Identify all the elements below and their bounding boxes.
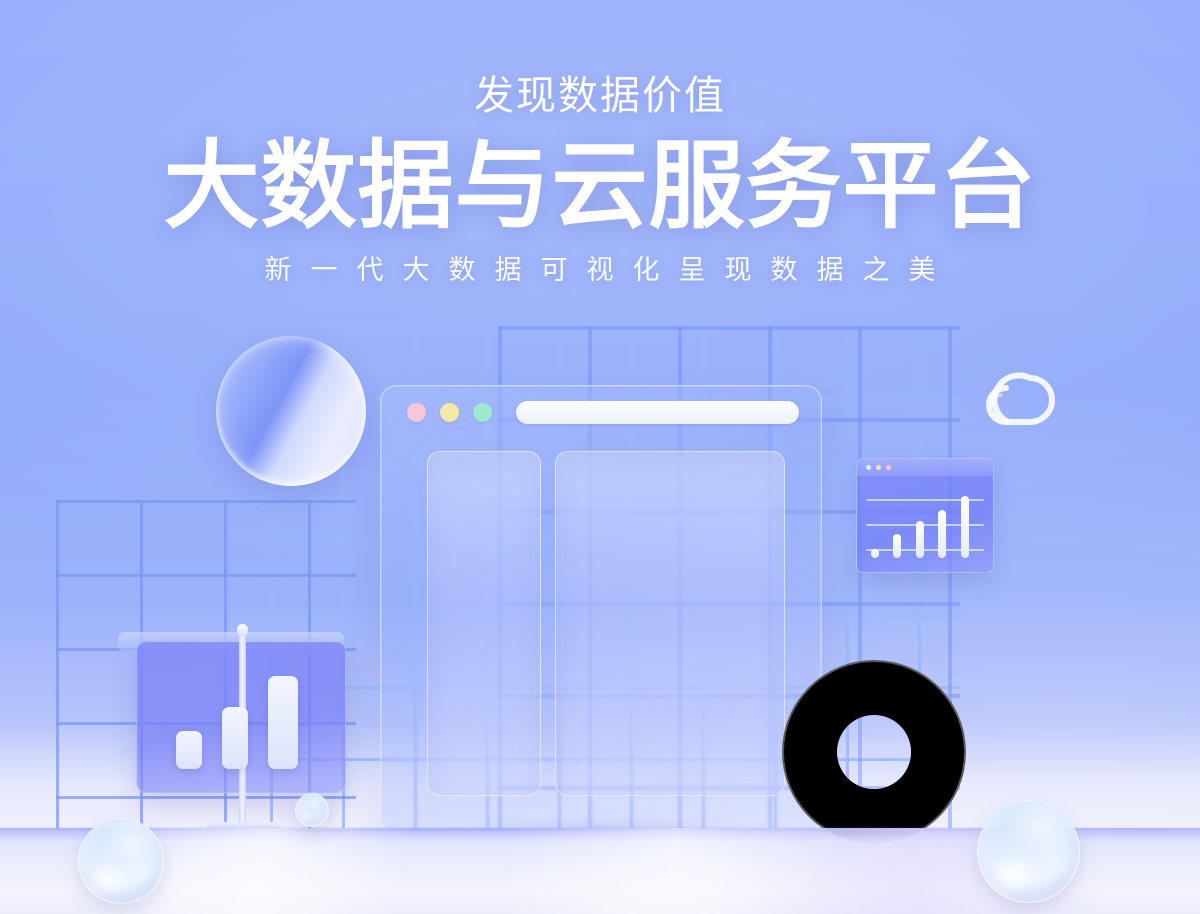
hero-banner: 发现数据价值 大数据与云服务平台 新一代大数据可视化呈现数据之美 [0,0,1200,914]
board-pole-cap [237,624,248,636]
board-bar-1 [176,731,202,769]
maximize-dot[interactable] [473,403,492,422]
page-title: 大数据与云服务平台 [0,138,1200,236]
hero-text: 发现数据价值 大数据与云服务平台 新一代大数据可视化呈现数据之美 [0,76,1200,287]
glass-sphere-left [78,818,164,904]
glass-sphere-right [977,800,1080,903]
card-dot-3[interactable] [886,465,891,470]
mini-card-bar [893,534,901,558]
mini-chart-card[interactable] [856,458,994,573]
mini-card-titlebar [857,459,993,476]
glass-disc [216,336,366,486]
hero-eyebrow: 发现数据价值 [0,76,1200,116]
card-dot-1[interactable] [866,465,871,470]
content-panel[interactable] [555,451,785,796]
mini-card-bar [961,496,969,558]
board-bar-2 [222,707,248,769]
mini-card-bar [938,510,946,558]
cloud-icon [968,358,1060,428]
sidebar-panel[interactable] [427,451,541,796]
browser-titlebar [381,386,821,438]
donut-chart-torus [782,660,966,844]
mini-card-bar [871,549,879,558]
hero-tagline: 新一代大数据可视化呈现数据之美 [0,248,1200,287]
browser-window[interactable] [380,385,822,832]
mini-card-bars [871,486,983,558]
card-dot-2[interactable] [876,465,881,470]
address-bar-input[interactable] [516,401,799,424]
close-dot[interactable] [407,403,426,422]
board-bar-3 [268,676,298,769]
minimize-dot[interactable] [440,403,459,422]
glass-sphere-small [295,793,329,827]
mini-card-bar [916,521,924,558]
